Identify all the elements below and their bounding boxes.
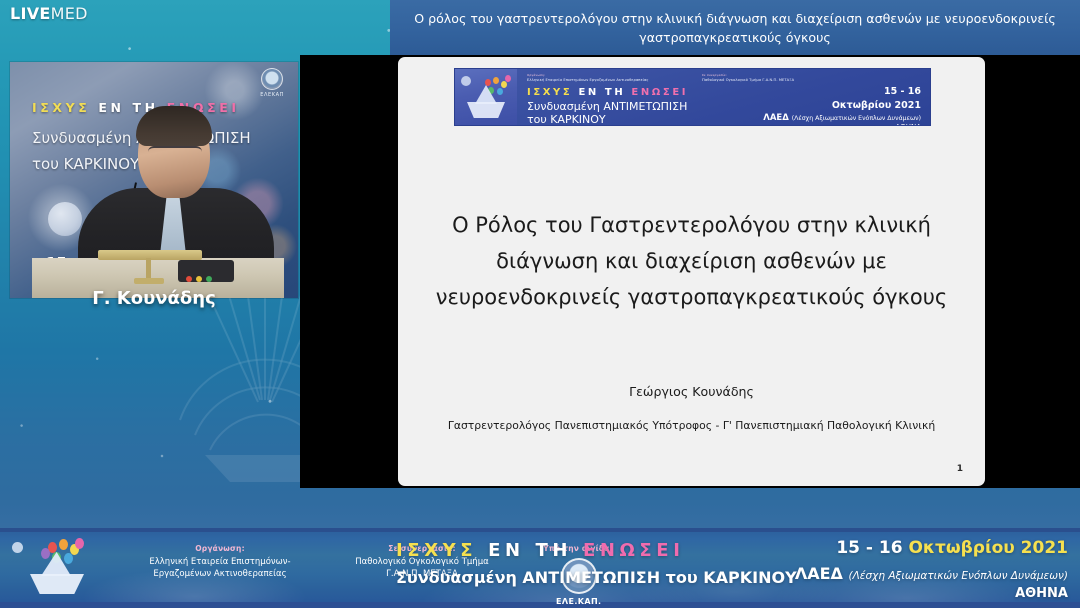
footer-venue-abbr: ΛΑΕΔ <box>795 564 843 583</box>
video-elekap-logo: ΕΛΕΚΑΠ <box>260 68 284 98</box>
footer-venue-full: (Λέσχη Αξιωματικών Ενόπλων Δυνάμεων) <box>849 570 1068 582</box>
footer-balloon <box>41 548 50 559</box>
podium-lamp-base <box>134 278 164 284</box>
video-backdrop-line3: του ΚΑΡΚΙΝΟΥ <box>32 155 139 173</box>
podium-lamp-stem <box>146 258 151 280</box>
footer-bottom-divider <box>0 602 1080 608</box>
banner-motto: ΙΣΧΥΣ ΕΝ ΤΗ ΕΝΩΣΕΙ <box>527 87 688 98</box>
banner-coop-label: Σε συνεργασία: <box>702 73 727 77</box>
elekap-ring-icon <box>261 68 283 90</box>
footer-dates-month: Οκτωβρίου 2021 <box>908 538 1068 558</box>
console-led-red <box>186 276 192 282</box>
footer-motto-enosei: ΕΝΩΣΕΙ <box>583 540 685 561</box>
banner-sail-icon <box>475 85 497 104</box>
banner-org-value: Ελληνική Εταιρεία Επιστημόνων Εργαζομένω… <box>527 78 649 82</box>
footer-motto-enti: ΕΝ ΤΗ <box>488 540 572 561</box>
footer-balloon <box>75 538 84 549</box>
speaker-video-thumbnail[interactable]: ΕΛΕΚΑΠ ΙΣΧΥΣ ΕΝ ΤΗ ΕΝΩΣΕΙ Συνδυασμένη ΑΝ… <box>10 62 298 298</box>
footer-motto-isxys: ΙΣΧΥΣ <box>396 540 477 561</box>
footer-moon-icon <box>12 542 23 553</box>
footer-org-label: Οργάνωση: <box>120 544 320 553</box>
logo-live: LIVE <box>10 4 51 23</box>
video-motto: ΙΣΧΥΣ ΕΝ ΤΗ ΕΝΩΣΕΙ <box>32 100 240 115</box>
page-title: Ο ρόλος του γαστρεντερολόγου στην κλινικ… <box>390 9 1080 47</box>
banner-balloon <box>505 75 511 82</box>
footer-dates: 15 - 16 Οκτωβρίου 2021 <box>836 538 1068 558</box>
slide-congress-banner: Οργάνωση: Ελληνική Εταιρεία Επιστημόνων … <box>454 68 931 126</box>
logo-med: MED <box>51 4 88 23</box>
slide-stage[interactable]: Οργάνωση: Ελληνική Εταιρεία Επιστημόνων … <box>300 55 1080 488</box>
footer-organizer-block: Οργάνωση: Ελληνική Εταιρεία Επιστημόνων-… <box>120 544 320 580</box>
footer-dates-days: 15 - 16 <box>836 538 902 558</box>
banner-coop-value: Παθολογικό Ογκολογικό Τμήμα Γ.Α.Ν.Π. ΜΕΤ… <box>702 78 794 82</box>
speaker-glasses-icon <box>148 146 202 158</box>
banner-balloon <box>493 77 499 84</box>
livemed-logo: LIVEMED <box>10 4 88 24</box>
banner-artwork <box>455 69 517 125</box>
banner-org-label: Οργάνωση: <box>527 73 545 77</box>
banner-line2: Συνδυασμένη ΑΝΤΙΜΕΤΩΠΙΣΗ <box>527 100 687 113</box>
speaker-name-label: Γ. Κουνάδης <box>10 288 298 309</box>
footer-top-divider <box>0 528 1080 532</box>
footer-subtitle: Συνδυασμένη ΑΝΤΙΜΕΤΩΠΙΣΗ του ΚΑΡΚΙΝΟΥ <box>396 568 797 587</box>
slide-affiliation: Γαστρεντερολόγος Πανεπιστημιακός Υπότροφ… <box>426 418 957 434</box>
banner-motto-enti: ΕΝ ΤΗ <box>578 87 625 98</box>
presentation-slide[interactable]: Οργάνωση: Ελληνική Εταιρεία Επιστημόνων … <box>398 57 985 486</box>
banner-venue: ΛΑΕΔ (Λέσχη Αξιωματικών Ενόπλων Δυνάμεων… <box>763 113 921 123</box>
banner-balloon <box>485 79 491 86</box>
banner-motto-enosei: ΕΝΩΣΕΙ <box>631 87 688 98</box>
footer-motto: ΙΣΧΥΣ ΕΝ ΤΗ ΕΝΩΣΕΙ <box>396 540 685 561</box>
elekap-caption: ΕΛΕΚΑΠ <box>260 92 284 98</box>
footer-venue: ΛΑΕΔ (Λέσχη Αξιωματικών Ενόπλων Δυνάμεων… <box>795 564 1068 583</box>
footer-elekap-caption: ΕΛΕ.ΚΑΠ. <box>556 597 602 606</box>
banner-line3: του ΚΑΡΚΙΝΟΥ <box>527 113 606 126</box>
banner-venue-full: (Λέσχη Αξιωματικών Ενόπλων Δυνάμεων) <box>792 115 921 122</box>
footer-city: ΑΘΗΝΑ <box>1015 586 1068 601</box>
slide-page-number: 1 <box>957 464 963 474</box>
banner-month-year: Οκτωβρίου 2021 <box>832 100 921 111</box>
slide-title: Ο Ρόλος του Γαστρεντερολόγου στην κλινικ… <box>426 207 957 315</box>
footer-balloon <box>59 539 68 550</box>
footer-congress-banner: Οργάνωση: Ελληνική Εταιρεία Επιστημόνων-… <box>0 528 1080 608</box>
footer-org-value: Ελληνική Εταιρεία Επιστημόνων- Εργαζομέν… <box>120 556 320 580</box>
footer-boat-icon <box>30 574 84 594</box>
header-title-bar: Ο ρόλος του γαστρεντερολόγου στην κλινικ… <box>390 0 1080 55</box>
banner-boat-icon <box>467 102 505 118</box>
banner-dates: 15 - 16 <box>884 86 921 97</box>
speaker-hair <box>136 106 212 146</box>
banner-motto-isxys: ΙΣΧΥΣ <box>527 87 572 98</box>
video-motto-isxys: ΙΣΧΥΣ <box>32 100 90 115</box>
banner-balloon <box>497 88 503 95</box>
console-led-green <box>206 276 212 282</box>
console-led-yellow <box>196 276 202 282</box>
banner-text: Οργάνωση: Ελληνική Εταιρεία Επιστημόνων … <box>517 69 930 125</box>
banner-city: ΑΘΗΝΑ <box>895 123 921 126</box>
banner-venue-abbr: ΛΑΕΔ <box>763 113 789 123</box>
footer-artwork <box>8 536 104 604</box>
footer-balloon <box>64 553 73 564</box>
banner-balloon <box>501 81 507 88</box>
banner-moon-icon <box>461 76 471 86</box>
slide-author-name: Γεώργιος Κουνάδης <box>426 384 957 399</box>
backdrop-moon-icon <box>48 202 82 236</box>
